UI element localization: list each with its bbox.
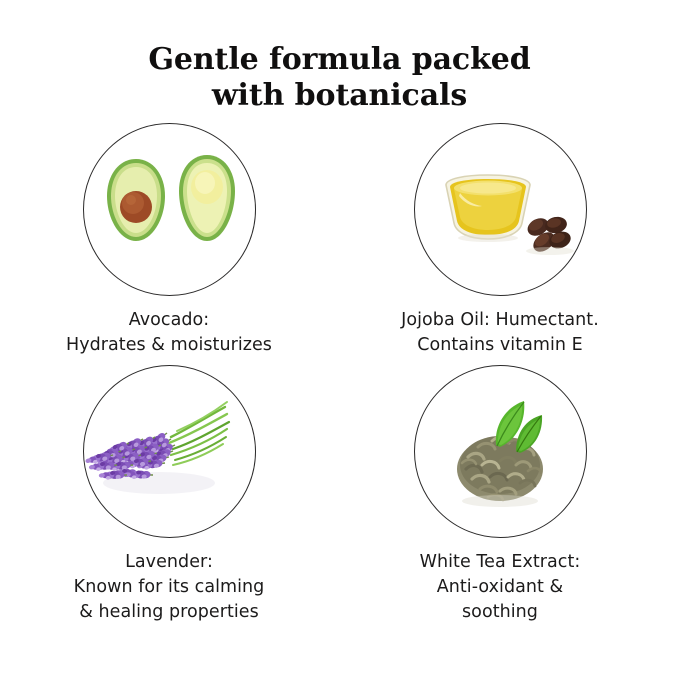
ingredient-card-lavender: Lavender: Known for its calming & healin… xyxy=(19,365,319,625)
ingredient-caption-jojoba-oil: Jojoba Oil: Humectant. Contains vitamin … xyxy=(350,308,650,358)
ingredient-caption-lavender: Lavender: Known for its calming & healin… xyxy=(19,550,319,625)
caption-line-2: Known for its calming xyxy=(19,575,319,600)
ingredient-infographic: Gentle formula packed with botanicals xyxy=(0,0,679,679)
page-title-line-2: with botanicals xyxy=(0,78,679,114)
ingredient-circle-lavender xyxy=(83,365,256,538)
ingredient-caption-white-tea-extract: White Tea Extract: Anti-oxidant & soothi… xyxy=(350,550,650,625)
caption-line-3: & healing properties xyxy=(19,600,319,625)
ingredient-card-white-tea-extract: White Tea Extract: Anti-oxidant & soothi… xyxy=(350,365,650,625)
caption-line-2: Hydrates & moisturizes xyxy=(19,333,319,358)
ingredient-card-jojoba-oil: Jojoba Oil: Humectant. Contains vitamin … xyxy=(350,123,650,358)
caption-line-1: Jojoba Oil: Humectant. xyxy=(350,308,650,333)
ingredient-card-avocado: Avocado: Hydrates & moisturizes xyxy=(19,123,319,358)
page-title-line-1: Gentle formula packed xyxy=(0,42,679,78)
white-tea-leaves-image xyxy=(414,365,587,538)
caption-line-3: soothing xyxy=(350,600,650,625)
ingredient-circle-white-tea-extract xyxy=(414,365,587,538)
avocado-halves-image xyxy=(83,123,256,296)
caption-line-1: Avocado: xyxy=(19,308,319,333)
caption-line-2: Anti-oxidant & xyxy=(350,575,650,600)
page-title: Gentle formula packed with botanicals xyxy=(0,42,679,114)
lavender-bouquet-image xyxy=(83,365,256,538)
caption-line-2: Contains vitamin E xyxy=(350,333,650,358)
ingredient-circle-jojoba-oil xyxy=(414,123,587,296)
jojoba-oil-bowl-image xyxy=(414,123,587,296)
ingredient-caption-avocado: Avocado: Hydrates & moisturizes xyxy=(19,308,319,358)
ingredient-circle-avocado xyxy=(83,123,256,296)
caption-line-1: White Tea Extract: xyxy=(350,550,650,575)
caption-line-1: Lavender: xyxy=(19,550,319,575)
